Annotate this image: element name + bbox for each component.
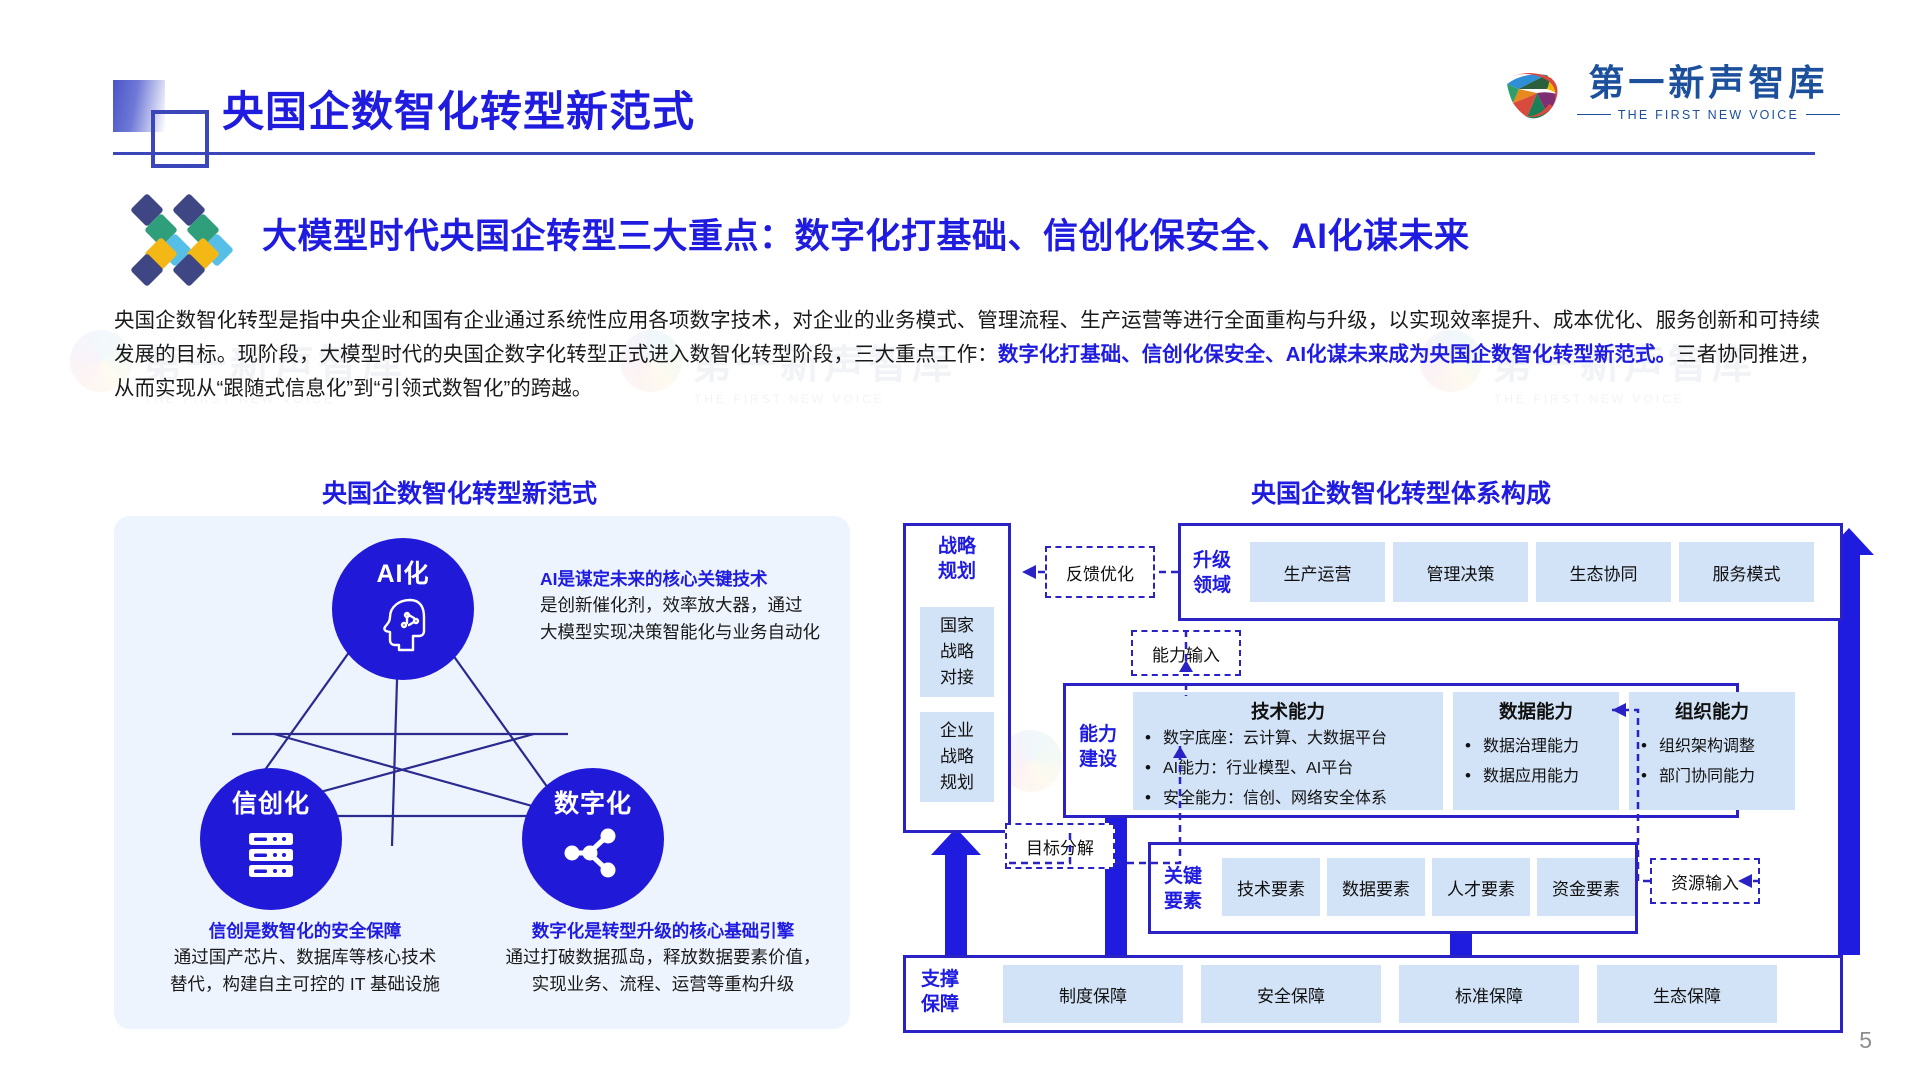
brand-globe-icon: [1503, 62, 1565, 124]
headline: 大模型时代央国企转型三大重点：数字化打基础、信创化保安全、AI化谋未来: [262, 208, 1470, 259]
right-panel-dashed-connectors: [900, 510, 1910, 1040]
caption-shuzihua-line2: 实现业务、流程、运营等重构升级: [498, 971, 828, 998]
caption-shuzihua-title: 数字化是转型升级的核心基础引擎: [498, 918, 828, 944]
caption-ai: AI是谋定未来的核心关键技术 是创新催化剂，效率放大器，通过 大模型实现决策智能…: [540, 566, 820, 646]
caption-shuzihua: 数字化是转型升级的核心基础引擎 通过打破数据孤岛，释放数据要素价值， 实现业务、…: [498, 918, 828, 998]
caption-xinchuang-line1: 通过国产芯片、数据库等核心技术: [140, 944, 470, 971]
caption-ai-title: AI是谋定未来的核心关键技术: [540, 566, 820, 592]
caption-xinchuang: 信创是数智化的安全保障 通过国产芯片、数据库等核心技术 替代，构建自主可控的 I…: [140, 918, 470, 998]
page-number: 5: [1859, 1027, 1872, 1054]
brand-name-en: THE FIRST NEW VOICE: [1618, 108, 1799, 122]
caption-shuzihua-line1: 通过打破数据孤岛，释放数据要素价值，: [498, 944, 828, 971]
brand-rule-left: [1577, 114, 1611, 115]
node-ai[interactable]: AI化: [332, 538, 474, 680]
header-divider: [113, 152, 1815, 155]
caption-ai-line2: 大模型实现决策智能化与业务自动化: [540, 619, 820, 646]
node-ai-label: AI化: [376, 554, 429, 590]
slide-root: 第一新声智库THE FIRST NEW VOICE 第一新声智库THE FIRS…: [0, 0, 1920, 1080]
server-rack-icon: [243, 826, 299, 882]
network-share-icon: [564, 826, 622, 882]
node-xinchuang-label: 信创化: [232, 784, 310, 820]
caption-xinchuang-line2: 替代，构建自主可控的 IT 基础设施: [140, 971, 470, 998]
node-xinchuang[interactable]: 信创化: [200, 768, 342, 910]
page-title: 央国企数智化转型新范式: [222, 78, 695, 139]
right-panel-title: 央国企数智化转型体系构成: [1251, 474, 1551, 510]
caption-xinchuang-title: 信创是数智化的安全保障: [140, 918, 470, 944]
caption-ai-line1: 是创新催化剂，效率放大器，通过: [540, 592, 820, 619]
diamond-cluster-icon: [132, 196, 236, 282]
brand-rule-right: [1806, 114, 1840, 115]
header-decoration-square-outline: [151, 110, 209, 168]
left-panel-title: 央国企数智化转型新范式: [322, 474, 597, 510]
node-shuzihua-label: 数字化: [554, 784, 632, 820]
brand-logo: 第一新声智库 THE FIRST NEW VOICE: [1503, 62, 1840, 124]
ai-head-icon: [376, 596, 430, 654]
brand-name-cn: 第一新声智库: [1588, 65, 1828, 101]
brand-tagline: THE FIRST NEW VOICE: [1577, 108, 1840, 122]
intro-text-highlight: 数字化打基础、信创化保安全、AI化谋未来成为央国企数智化转型新范式。: [998, 343, 1676, 366]
node-shuzihua[interactable]: 数字化: [522, 768, 664, 910]
intro-paragraph: 央国企数智化转型是指中央企业和国有企业通过系统性应用各项数字技术，对企业的业务模…: [114, 304, 1820, 406]
